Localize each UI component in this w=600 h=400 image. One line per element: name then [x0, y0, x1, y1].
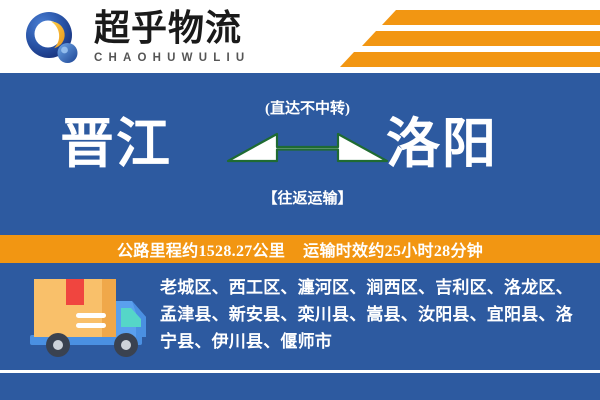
- stripe-1: [382, 10, 600, 25]
- footer-strip: [0, 373, 600, 400]
- delivery-truck-icon: [24, 271, 152, 363]
- brand-name-en: CHAOHUWULIU: [94, 50, 324, 66]
- district-coverage-list: 老城区、西工区、瀍河区、涧西区、吉利区、洛龙区、孟津县、新安县、栾川县、嵩县、汝…: [160, 274, 585, 355]
- decorative-stripes: [340, 0, 600, 73]
- round-trip-note: 【往返运输】: [225, 187, 390, 208]
- origin-city: 晋江: [60, 113, 172, 175]
- coverage-section: 老城区、西工区、瀍河区、涧西区、吉利区、洛龙区、孟津县、新安县、栾川县、嵩县、汝…: [0, 263, 600, 370]
- distance-text: 公路里程约1528.27公里: [117, 237, 285, 261]
- brand-name-cn: 超乎物流: [94, 8, 324, 48]
- direct-route-note: (直达不中转): [225, 97, 390, 118]
- brand-text-block: 超乎物流 CHAOHUWULIU: [94, 8, 324, 66]
- bidirectional-arrow-icon: [225, 123, 390, 179]
- stripe-3: [340, 52, 600, 67]
- route-panel: 晋江 (直达不中转) 【往返运输】 洛阳: [0, 73, 600, 235]
- route-info-bar: 公路里程约1528.27公里 运输时效约25小时28分钟: [0, 235, 600, 263]
- company-logo-icon: [24, 10, 80, 66]
- logistics-route-banner: 超乎物流 CHAOHUWULIU 晋江 (直达不中转) 【往返运输】 洛阳 公路…: [0, 0, 600, 400]
- route-arrow-group: (直达不中转) 【往返运输】: [225, 91, 390, 219]
- stripe-2: [362, 31, 600, 46]
- banner-header: 超乎物流 CHAOHUWULIU: [0, 0, 600, 73]
- duration-text: 运输时效约25小时28分钟: [303, 237, 483, 261]
- destination-city: 洛阳: [386, 113, 498, 175]
